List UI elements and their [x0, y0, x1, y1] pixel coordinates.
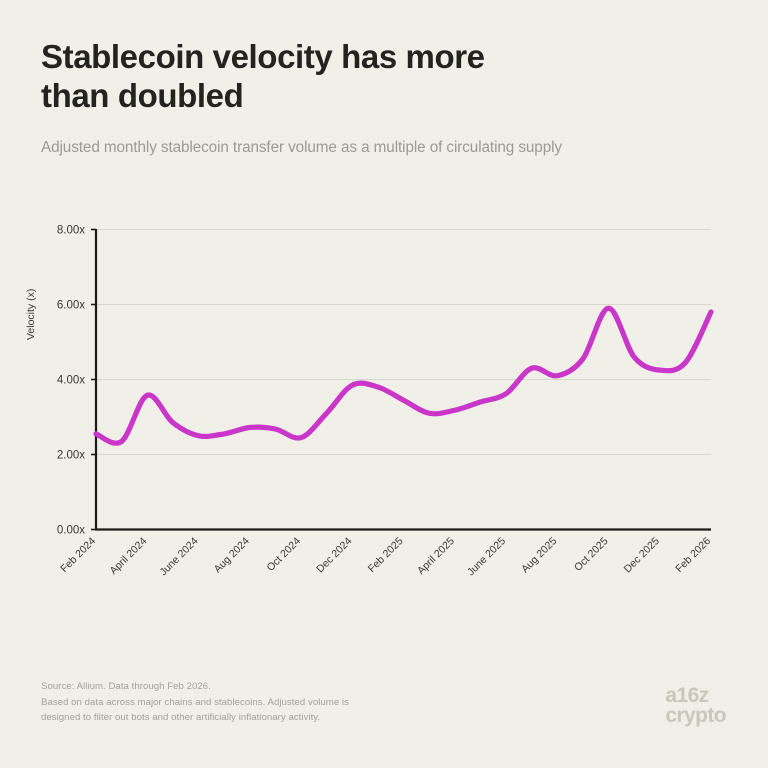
x-tick-label: Feb 2025: [366, 535, 406, 575]
logo-line-a16z: a16z: [665, 686, 726, 706]
chart-footnote: Source: Allium. Data through Feb 2026. B…: [41, 679, 461, 726]
note-line-2: designed to filter out bots and other ar…: [41, 710, 461, 726]
page-title: Stablecoin velocity has more than double…: [41, 38, 731, 116]
x-tick-label: June 2024: [157, 535, 200, 578]
page-subtitle: Adjusted monthly stablecoin transfer vol…: [41, 116, 731, 159]
note-line-1: Based on data across major chains and st…: [41, 695, 461, 711]
x-tick-label: April 2025: [415, 535, 457, 577]
y-axis-label: Velocity (x): [25, 289, 37, 340]
x-tick-label: Feb 2024: [58, 535, 98, 575]
x-tick-label: Oct 2024: [264, 535, 303, 574]
x-tick-label: Dec 2024: [314, 535, 354, 575]
x-tick-label: June 2025: [465, 535, 508, 578]
y-tick-labels: 0.00x2.00x4.00x6.00x8.00x: [57, 225, 85, 537]
y-tick-label: 2.00x: [57, 450, 85, 462]
x-tick-label: Aug 2024: [212, 535, 252, 575]
velocity-series-line: [96, 308, 711, 443]
x-tick-labels: Feb 2024April 2024June 2024Aug 2024Oct 2…: [58, 535, 713, 578]
y-tick-label: 0.00x: [57, 525, 85, 537]
gridlines: [91, 230, 711, 530]
x-tick-label: Dec 2025: [622, 535, 662, 575]
chart-card: Stablecoin velocity has more than double…: [0, 0, 768, 768]
y-tick-label: 8.00x: [57, 225, 85, 237]
x-tick-label: Oct 2025: [572, 535, 611, 574]
x-tick-label: April 2024: [107, 535, 149, 577]
x-tick-label: Feb 2026: [673, 535, 713, 575]
logo-line-crypto: crypto: [665, 706, 726, 726]
y-tick-label: 6.00x: [57, 300, 85, 312]
source-line: Source: Allium. Data through Feb 2026.: [41, 679, 461, 695]
x-tick-label: Aug 2025: [519, 535, 559, 575]
a16z-crypto-logo: a16z crypto: [665, 686, 726, 726]
y-tick-label: 4.00x: [57, 375, 85, 387]
chart-header: Stablecoin velocity has more than double…: [41, 38, 731, 159]
